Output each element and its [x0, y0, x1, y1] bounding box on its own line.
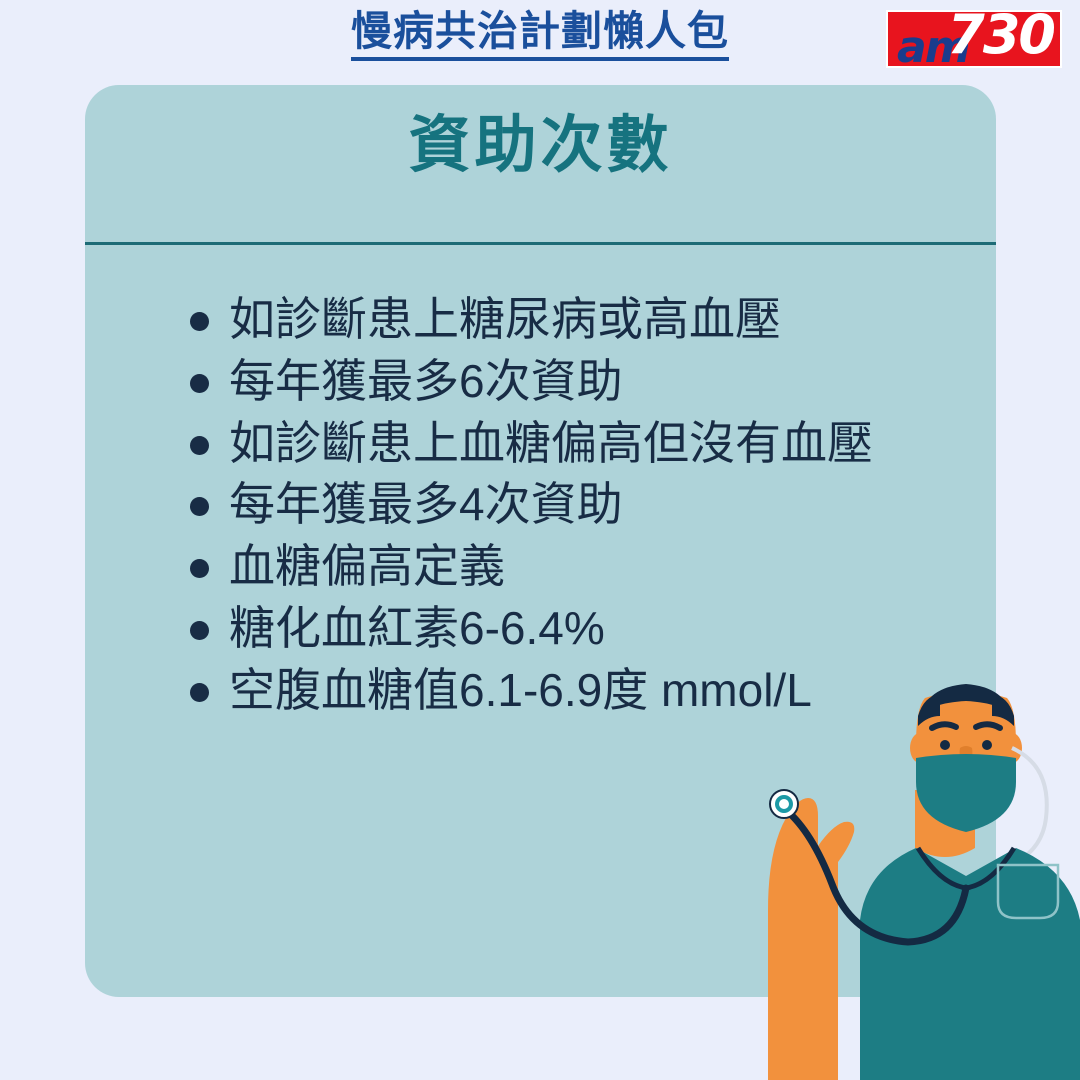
list-item: 每年獲最多6次資助 [177, 352, 977, 412]
list-item-label: 如診斷患上糖尿病或高血壓 [229, 293, 781, 345]
list-item: 空腹血糖值6.1-6.9度 mmol/L [177, 661, 977, 721]
top-bar: 慢病共治計劃懶人包 am 730 [0, 0, 1080, 85]
list-item-label: 每年獲最多4次資助 [229, 478, 623, 530]
list-item-label: 糖化血紅素6-6.4% [229, 602, 605, 654]
mask-strap-shape [1008, 748, 1047, 866]
list-item: 每年獲最多4次資助 [177, 475, 977, 535]
bullet-list: 如診斷患上糖尿病或高血壓 每年獲最多6次資助 如診斷患上血糖偏高但沒有血壓 每年… [177, 290, 977, 723]
list-item-label: 血糖偏高定義 [229, 540, 505, 592]
list-item-label: 如診斷患上血糖偏高但沒有血壓 [229, 417, 873, 469]
am730-logo[interactable]: am 730 [886, 10, 1062, 68]
card-divider [85, 242, 996, 245]
list-item: 如診斷患上糖尿病或高血壓 [177, 290, 977, 350]
info-card: 資助次數 如診斷患上糖尿病或高血壓 每年獲最多6次資助 如診斷患上血糖偏高但沒有… [85, 85, 996, 997]
list-item-label: 空腹血糖值6.1-6.9度 mmol/L [229, 664, 812, 716]
page-title-text: 慢病共治計劃懶人包 [351, 8, 729, 61]
list-item-label: 每年獲最多6次資助 [229, 355, 623, 407]
card-heading: 資助次數 [85, 107, 996, 185]
logo-730-text: 730 [947, 10, 1054, 62]
list-item: 血糖偏高定義 [177, 537, 977, 597]
list-item: 糖化血紅素6-6.4% [177, 599, 977, 659]
pocket-shape [998, 865, 1058, 918]
list-item: 如診斷患上血糖偏高但沒有血壓 [177, 414, 977, 474]
ear-right-shape [1002, 733, 1022, 763]
